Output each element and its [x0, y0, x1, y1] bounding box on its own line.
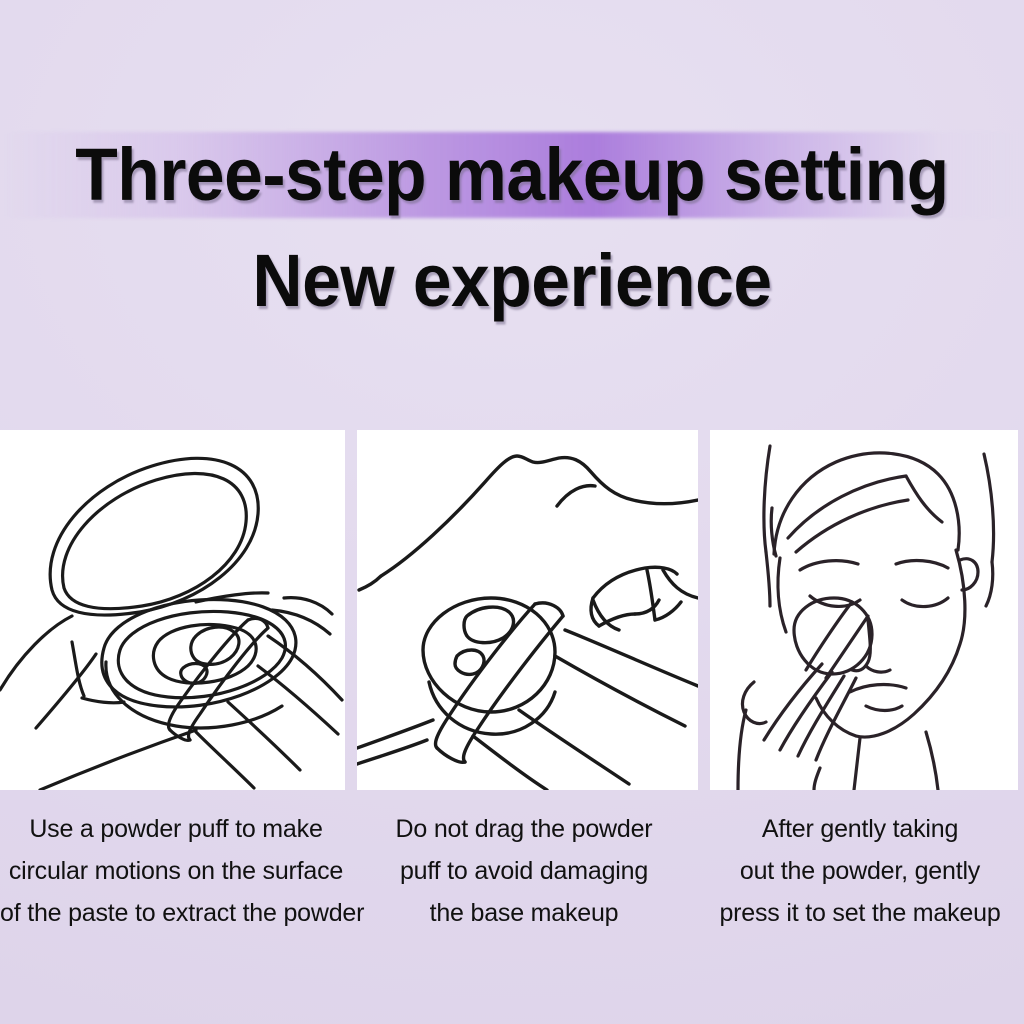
step-illustrations-row	[0, 430, 1024, 790]
step-3-caption-line-2: out the powder, gently	[696, 850, 1024, 892]
step-1-caption: Use a powder puff to make circular motio…	[0, 808, 352, 958]
step-2-caption-line-1: Do not drag the powder	[352, 808, 696, 850]
step-1-illustration-panel	[0, 430, 345, 790]
promo-poster: Three-step makeup setting New experience	[0, 0, 1024, 1024]
title-section: Three-step makeup setting New experience	[0, 0, 1024, 418]
step-1-caption-line-2: circular motions on the surface	[0, 850, 352, 892]
step-1-caption-line-3: of the paste to extract the powder	[0, 892, 352, 934]
step-2-caption-line-2: puff to avoid damaging	[352, 850, 696, 892]
hand-holding-puff-closeup-icon	[357, 430, 698, 790]
step-captions-row: Use a powder puff to make circular motio…	[0, 808, 1024, 958]
step-3-caption: After gently taking out the powder, gent…	[696, 808, 1024, 958]
step-2-caption: Do not drag the powder puff to avoid dam…	[352, 808, 696, 958]
step-2-caption-line-3: the base makeup	[352, 892, 696, 934]
compact-powder-case-with-puff-icon	[0, 430, 345, 790]
woman-face-pressing-puff-icon	[710, 430, 1018, 790]
headline-line-1: Three-step makeup setting	[31, 132, 994, 218]
step-2-illustration-panel	[357, 430, 698, 790]
headline-line-2: New experience	[31, 238, 994, 324]
step-1-caption-line-1: Use a powder puff to make	[0, 808, 352, 850]
step-3-illustration-panel	[710, 430, 1018, 790]
step-3-caption-line-3: press it to set the makeup	[696, 892, 1024, 934]
step-3-caption-line-1: After gently taking	[696, 808, 1024, 850]
